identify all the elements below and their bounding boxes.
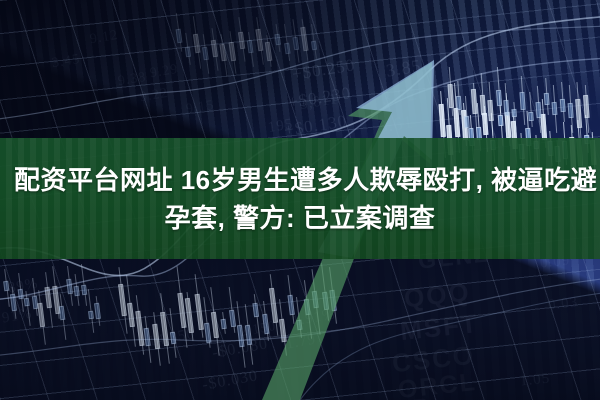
headline-container: 配资平台网址 16岁男生遭多人欺辱殴打, 被逼吃避 孕套, 警方: 已立案调查 (0, 138, 600, 259)
headline-line-2: 孕套, 警方: 已立案调查 (165, 200, 436, 236)
news-banner: +$0.250+$0.230+$0.1303.853.723.613,81119… (0, 0, 600, 400)
headline-line-1: 配资平台网址 16岁男生遭多人欺辱殴打, 被逼吃避 (14, 162, 597, 198)
